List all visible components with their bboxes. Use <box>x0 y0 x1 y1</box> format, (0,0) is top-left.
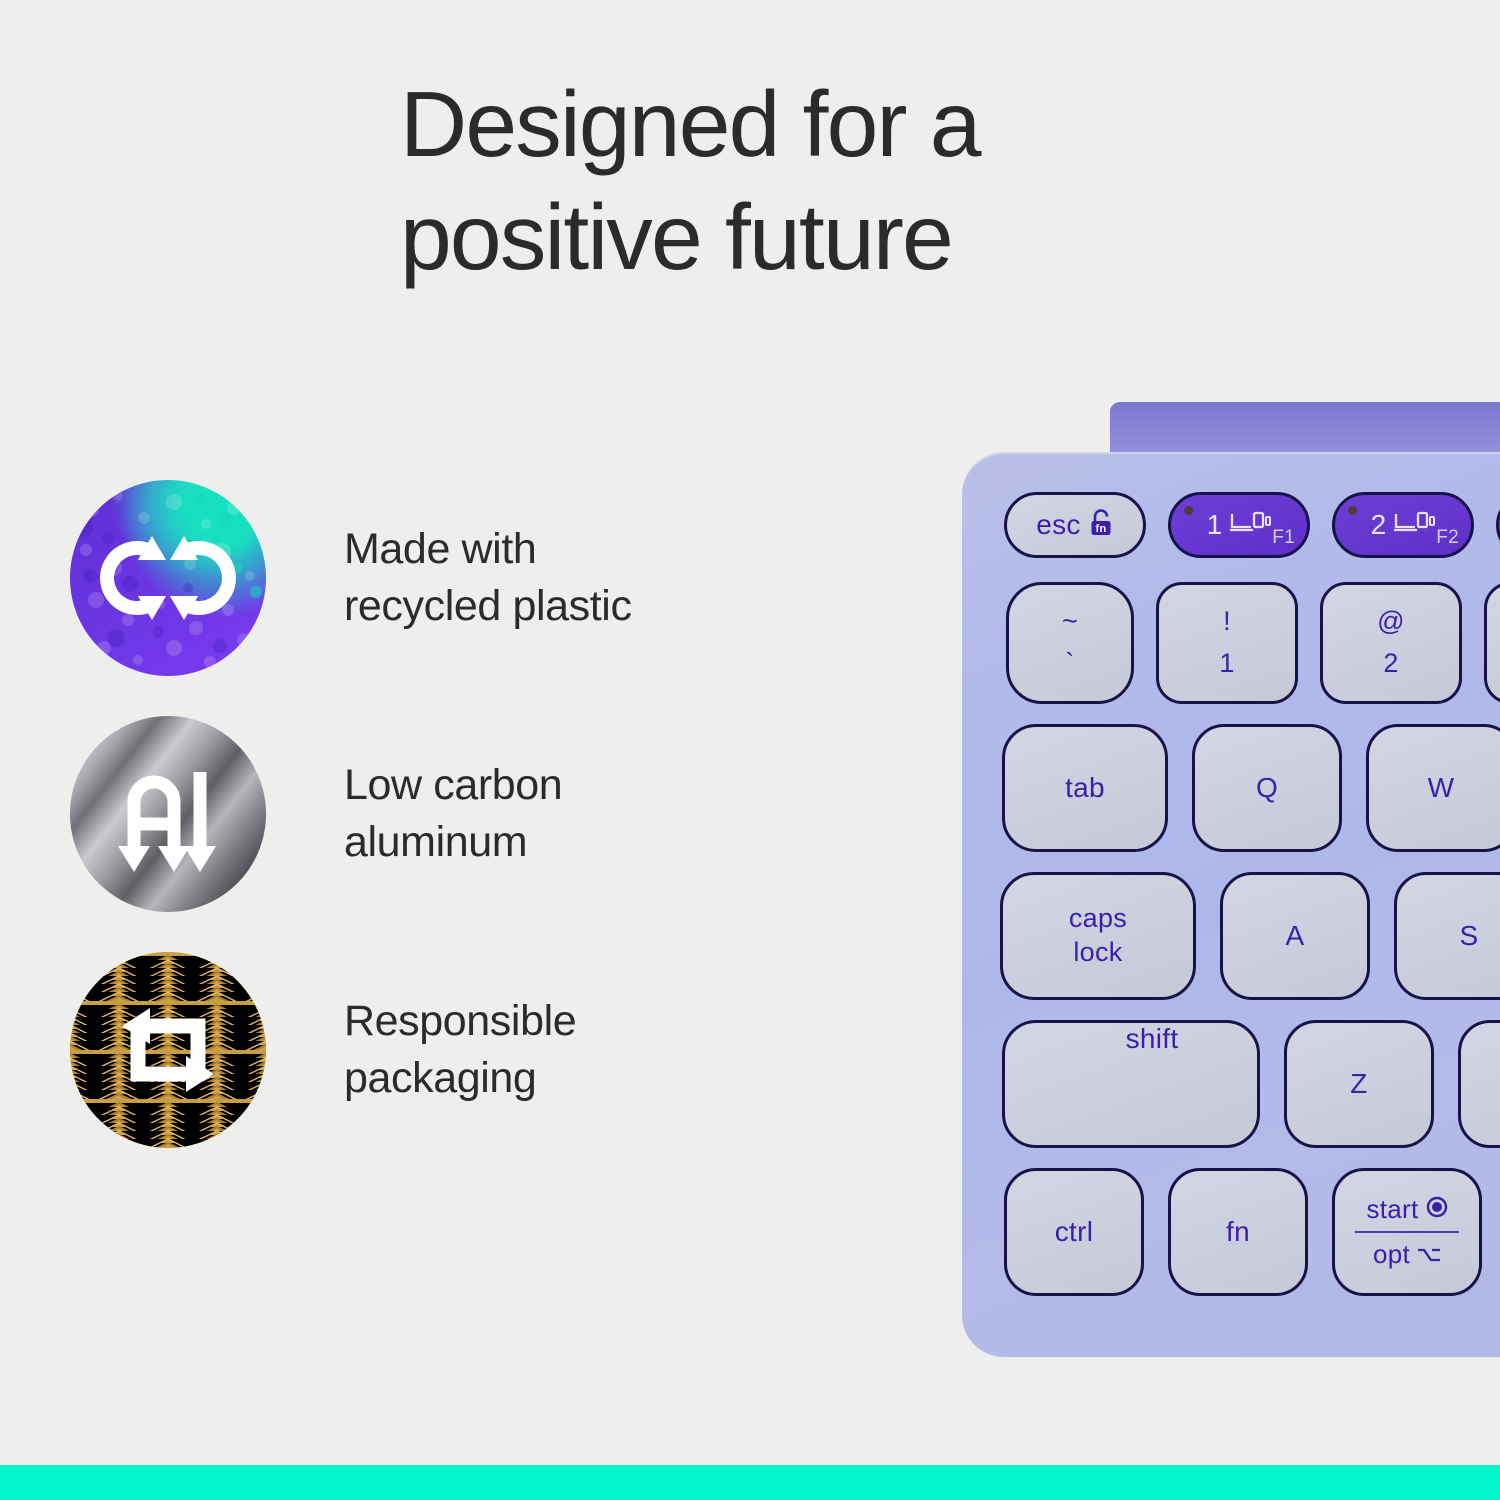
key-f2-number: 2 <box>1371 509 1387 541</box>
responsible-packaging-icon <box>70 952 266 1148</box>
key-backtick-lower: ` <box>1062 648 1078 680</box>
key-ctrl[interactable]: ctrl <box>1004 1168 1144 1296</box>
key-opt-label: opt <box>1373 1239 1410 1270</box>
feature-label-responsible-packaging: Responsible packaging <box>344 993 576 1107</box>
key-a-label: A <box>1286 920 1305 952</box>
low-carbon-aluminum-icon <box>70 716 266 912</box>
key-2-lower: 2 <box>1377 648 1405 680</box>
key-2-upper: @ <box>1377 606 1405 638</box>
key-caps-lock-line1: caps <box>1069 903 1127 935</box>
key-caps-lock-line2: lock <box>1069 937 1127 969</box>
feature-item-low-carbon-aluminum: Low carbon aluminum <box>70 714 790 914</box>
feature-list: Made with recycled plastic Low carbon al… <box>70 478 790 1186</box>
key-s-label: S <box>1460 920 1479 952</box>
led-indicator <box>1184 506 1193 515</box>
key-caps-lock[interactable]: caps lock <box>1000 872 1196 1000</box>
svg-text:fn: fn <box>1095 523 1106 535</box>
key-shift[interactable]: shift <box>1002 1020 1260 1148</box>
shift-row: shift Z <box>1002 1020 1500 1148</box>
key-split-divider <box>1355 1231 1459 1234</box>
feature-item-responsible-packaging: Responsible packaging <box>70 950 790 1150</box>
key-3[interactable] <box>1484 582 1500 704</box>
keyboard-body: esc fn 1 <box>962 452 1500 1357</box>
key-f1-number: 1 <box>1207 509 1223 541</box>
key-1-lower: 1 <box>1219 648 1234 680</box>
key-x[interactable] <box>1458 1020 1500 1148</box>
key-tab-label: tab <box>1065 772 1105 804</box>
key-f1[interactable]: 1 F1 <box>1168 492 1310 558</box>
key-tab[interactable]: tab <box>1002 724 1168 852</box>
recycled-plastic-icon <box>70 480 266 676</box>
key-shift-label: shift <box>1126 1023 1179 1055</box>
key-f2[interactable]: 2 F2 <box>1332 492 1474 558</box>
key-1-upper: ! <box>1219 606 1234 638</box>
keyboard-product-image: esc fn 1 <box>962 402 1500 1357</box>
windows-start-icon <box>1426 1196 1448 1222</box>
key-start-label: start <box>1366 1194 1418 1225</box>
key-q[interactable]: Q <box>1192 724 1342 852</box>
modifier-row: ctrl fn start opt <box>1004 1168 1500 1296</box>
key-start-half: start <box>1366 1191 1447 1228</box>
home-row: caps lock A S <box>1000 872 1500 1000</box>
led-indicator <box>1348 506 1357 515</box>
key-ctrl-label: ctrl <box>1055 1216 1094 1248</box>
key-f1-sublabel: F1 <box>1272 527 1295 549</box>
option-icon <box>1417 1242 1441 1268</box>
key-fn-label: fn <box>1226 1216 1250 1248</box>
key-opt-half: opt <box>1373 1236 1441 1273</box>
key-1[interactable]: ! 1 <box>1156 582 1298 704</box>
key-z-label: Z <box>1350 1068 1367 1100</box>
multi-device-icon <box>1393 510 1435 541</box>
key-f2-sublabel: F2 <box>1436 527 1459 549</box>
feature-item-recycled-plastic: Made with recycled plastic <box>70 478 790 678</box>
function-row: esc fn 1 <box>1004 492 1500 558</box>
qwerty-row: tab Q W <box>1002 724 1500 852</box>
key-backtick[interactable]: ~ ` <box>1006 582 1134 704</box>
page-title: Designed for a positive future <box>400 68 1160 295</box>
key-q-label: Q <box>1256 772 1278 804</box>
feature-label-recycled-plastic: Made with recycled plastic <box>344 521 632 635</box>
key-f3[interactable]: 3 F3 <box>1496 492 1500 558</box>
fn-lock-icon: fn <box>1088 508 1114 543</box>
key-esc-label: esc <box>1036 509 1080 541</box>
feature-label-low-carbon-aluminum: Low carbon aluminum <box>344 757 562 871</box>
key-z[interactable]: Z <box>1284 1020 1434 1148</box>
key-2[interactable]: @ 2 <box>1320 582 1462 704</box>
number-row: ~ ` ! 1 @ 2 <box>1006 582 1500 704</box>
key-s[interactable]: S <box>1394 872 1500 1000</box>
key-esc[interactable]: esc fn <box>1004 492 1146 558</box>
bottom-accent-bar <box>0 1465 1500 1500</box>
key-w-label: W <box>1428 772 1455 804</box>
key-fn[interactable]: fn <box>1168 1168 1308 1296</box>
key-w[interactable]: W <box>1366 724 1500 852</box>
key-backtick-upper: ~ <box>1062 606 1078 638</box>
key-a[interactable]: A <box>1220 872 1370 1000</box>
key-start-opt[interactable]: start opt <box>1332 1168 1482 1296</box>
multi-device-icon <box>1229 510 1271 541</box>
